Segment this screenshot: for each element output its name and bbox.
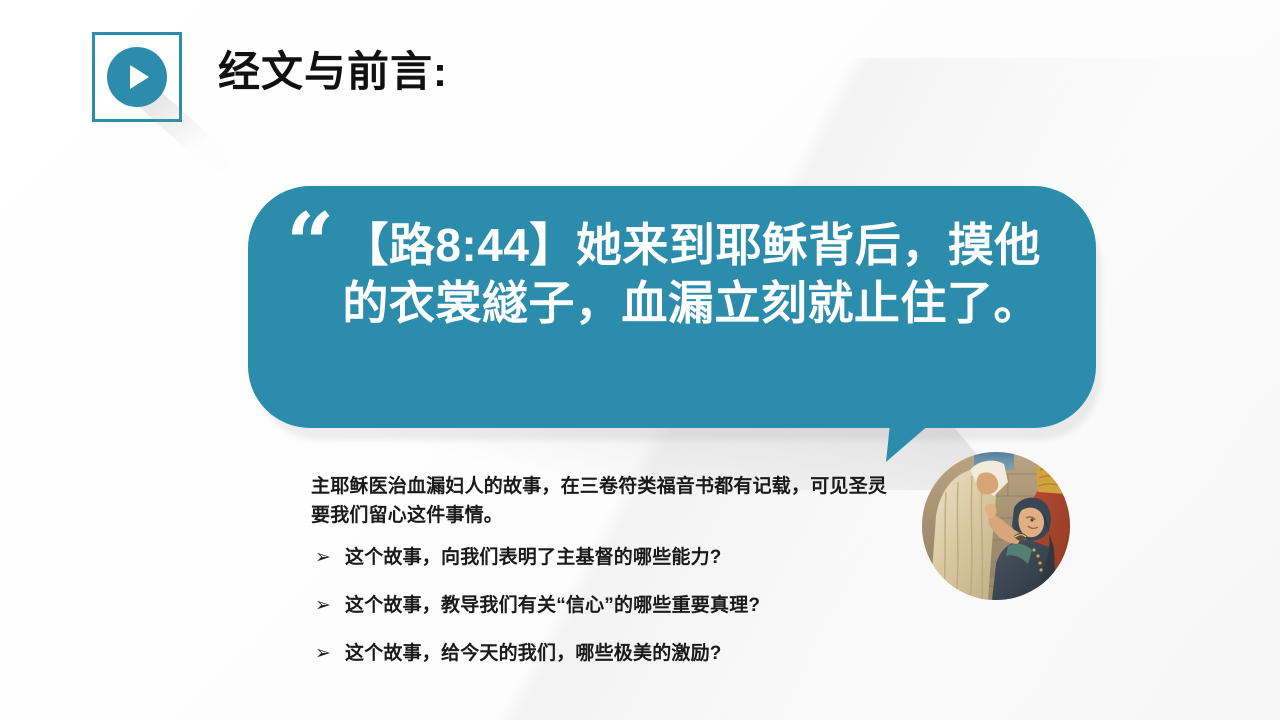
play-button-icon[interactable]	[107, 47, 167, 107]
painting-artwork	[922, 452, 1070, 600]
list-item-label: 这个故事，向我们表明了主基督的哪些能力?	[345, 544, 722, 571]
list-item: ➢ 这个故事，向我们表明了主基督的哪些能力?	[315, 544, 901, 571]
body-content: 主耶稣医治血漏妇人的故事，在三卷符类福音书都有记载，可见圣灵要我们留心这件事情。…	[311, 472, 901, 688]
open-quote-icon: “	[286, 214, 334, 274]
quote-content: “ 【路8:44】她来到耶稣背后，摸他的衣裳繸子，血漏立刻就止住了。	[248, 186, 1096, 428]
scripture-illustration-photo	[922, 452, 1070, 600]
scripture-quote-bubble: “ 【路8:44】她来到耶稣背后，摸他的衣裳繸子，血漏立刻就止住了。	[248, 186, 1096, 428]
arrow-bullet-icon: ➢	[315, 592, 345, 619]
intro-paragraph: 主耶稣医治血漏妇人的故事，在三卷符类福音书都有记载，可见圣灵要我们留心这件事情。	[311, 472, 901, 530]
play-icon-triangle	[130, 65, 149, 89]
scripture-quote-text: 【路8:44】她来到耶稣背后，摸他的衣裳繸子，血漏立刻就止住了。	[342, 216, 1052, 332]
question-list: ➢ 这个故事，向我们表明了主基督的哪些能力? ➢ 这个故事，教导我们有关“信心”…	[311, 544, 901, 667]
slide-canvas: 经文与前言: “ 【路8:44】她来到耶稣背后，摸他的衣裳繸子，血漏立刻就止住了…	[0, 0, 1280, 720]
list-item: ➢ 这个故事，给今天的我们，哪些极美的激励?	[315, 640, 901, 667]
list-item-label: 这个故事，教导我们有关“信心”的哪些重要真理?	[345, 592, 760, 619]
arrow-bullet-icon: ➢	[315, 640, 345, 667]
page-title: 经文与前言:	[218, 44, 448, 100]
list-item: ➢ 这个故事，教导我们有关“信心”的哪些重要真理?	[315, 592, 901, 619]
arrow-bullet-icon: ➢	[315, 544, 345, 571]
list-item-label: 这个故事，给今天的我们，哪些极美的激励?	[345, 640, 722, 667]
